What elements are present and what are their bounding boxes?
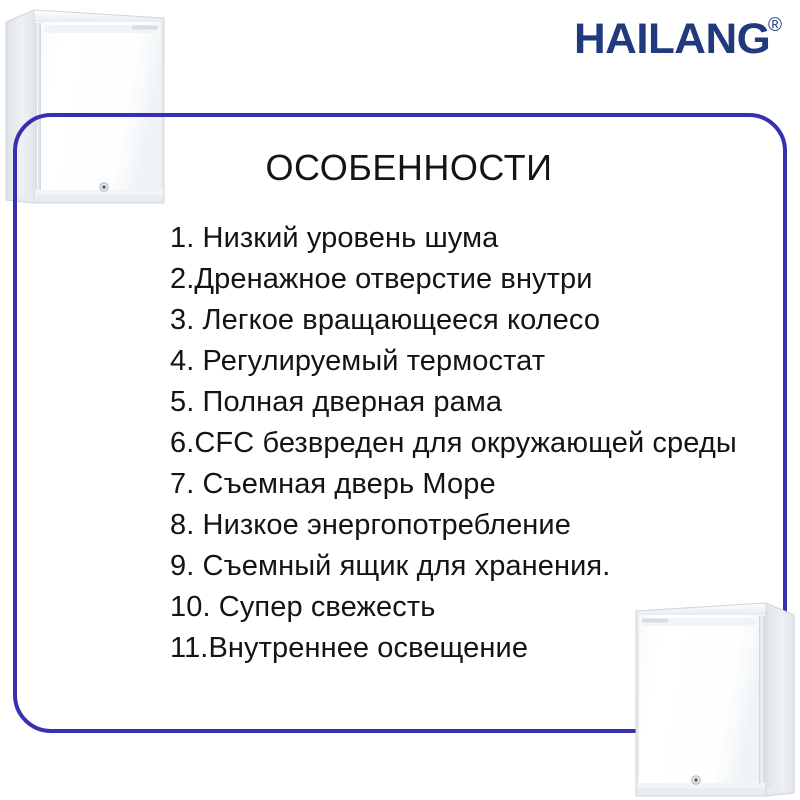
feature-list-item: 7. Съемная дверь Море xyxy=(170,464,737,505)
feature-list-item: 8. Низкое энергопотребление xyxy=(170,505,737,546)
feature-list-item: 4. Регулируемый термостат xyxy=(170,341,737,382)
feature-list-item: 9. Съемный ящик для хранения. xyxy=(170,546,737,587)
product-feature-poster: HAILANG ® ОСОБЕННОСТИ 1. Низкий уровень … xyxy=(0,0,800,800)
feature-list-item: 2.Дренажное отверстие внутри xyxy=(170,259,737,300)
page-title: ОСОБЕННОСТИ xyxy=(0,147,800,189)
refrigerator-bottom-right-image xyxy=(630,597,800,800)
feature-list-item: 6.CFC безвреден для окружающей среды xyxy=(170,423,737,464)
feature-list-item: 3. Легкое вращающееся колесо xyxy=(170,300,737,341)
feature-list-item: 1. Низкий уровень шума xyxy=(170,218,737,259)
feature-list-item: 5. Полная дверная рама xyxy=(170,382,737,423)
